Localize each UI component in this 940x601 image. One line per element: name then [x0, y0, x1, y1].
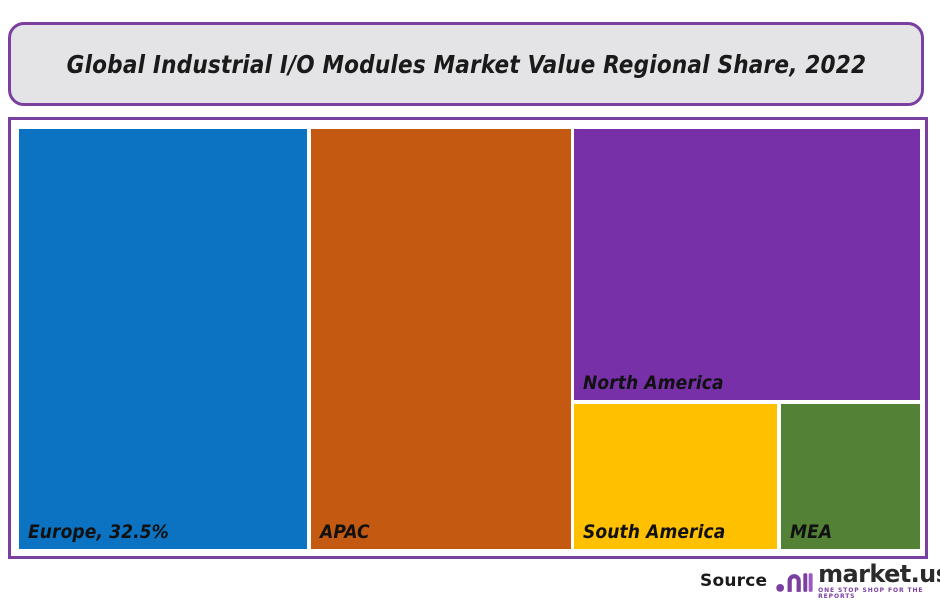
- treemap-tile-north-america[interactable]: North America: [574, 129, 920, 400]
- treemap-tile-label-north-america: North America: [583, 372, 724, 394]
- source-label: Source: [700, 571, 767, 591]
- treemap-tile-label-europe: Europe, 32.5%: [28, 521, 169, 543]
- market-us-logo[interactable]: market.us ONE STOP SHOP FOR THE REPORTS: [776, 562, 940, 600]
- treemap-tile-south-america[interactable]: South America: [574, 404, 777, 549]
- market-us-name: market.us: [818, 562, 940, 586]
- treemap-tile-europe[interactable]: Europe, 32.5%: [19, 129, 307, 549]
- market-us-wordmark: market.us ONE STOP SHOP FOR THE REPORTS: [818, 562, 940, 600]
- treemap-tile-label-mea: MEA: [790, 521, 832, 543]
- page-title: Global Industrial I/O Modules Market Val…: [66, 50, 866, 79]
- treemap-tile-label-south-america: South America: [583, 521, 725, 543]
- source-row: Source market.us ONE STOP SHOP FOR THE R…: [700, 564, 940, 598]
- market-us-bars-icon: [776, 568, 813, 594]
- treemap-tile-apac[interactable]: APAC: [311, 129, 571, 549]
- market-us-tagline: ONE STOP SHOP FOR THE REPORTS: [818, 588, 940, 600]
- treemap-tile-label-apac: APAC: [320, 521, 370, 543]
- chart-page: Global Industrial I/O Modules Market Val…: [0, 0, 940, 601]
- treemap-tile-mea[interactable]: MEA: [781, 404, 920, 549]
- chart-title-banner: Global Industrial I/O Modules Market Val…: [8, 22, 924, 106]
